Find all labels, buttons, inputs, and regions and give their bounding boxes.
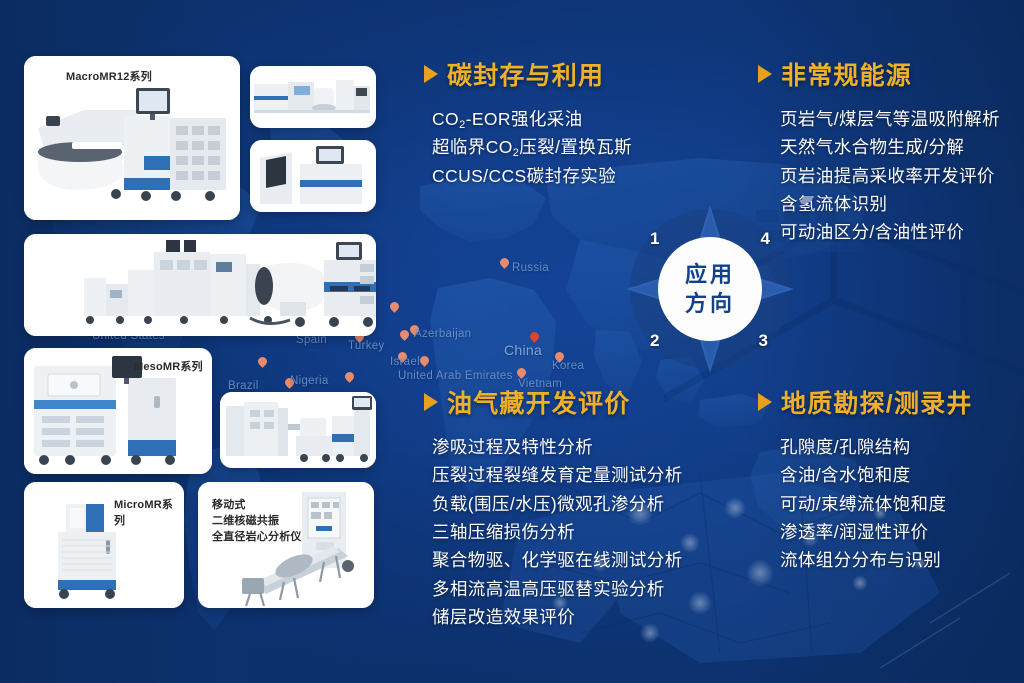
triangle-right-icon bbox=[424, 65, 438, 83]
list-item: 三轴压缩损伤分析 bbox=[432, 518, 683, 546]
list-item: 储层改造效果评价 bbox=[432, 603, 683, 631]
map-pin-uae bbox=[420, 356, 429, 369]
section-carbon-title: 碳封存与利用 bbox=[447, 56, 604, 92]
list-item: 含氢流体识别 bbox=[780, 190, 1000, 218]
section-geology-heading: 地质勘探/测录井 bbox=[758, 384, 973, 420]
compass-number-2: 2 bbox=[650, 331, 659, 351]
map-label-united-arab-emirates: United Arab Emirates bbox=[398, 370, 513, 382]
map-label-russia: Russia bbox=[512, 262, 549, 274]
list-item: 流体组分分布与识别 bbox=[780, 546, 973, 574]
list-item: 含油/含水饱和度 bbox=[780, 461, 973, 489]
poster-canvas: United States Brazil Spain Nigeria land … bbox=[0, 0, 1024, 683]
product-card-mobile-2d-nmr[interactable]: 移动式 二维核磁共振 全直径岩心分析仪 bbox=[198, 482, 374, 608]
triangle-right-icon bbox=[758, 393, 772, 411]
product-label-macromr12: MacroMR12系列 bbox=[66, 70, 152, 86]
section-unconventional-list: 页岩气/煤层气等温吸附解析 天然气水合物生成/分解 页岩油提高采收率开发评价 含… bbox=[758, 105, 1000, 247]
compass-title-line2: 方向 bbox=[626, 289, 794, 318]
compass-title-line1: 应用 bbox=[626, 260, 794, 289]
product-card-micromr[interactable]: MicroMR系列 bbox=[24, 482, 184, 608]
product-card-mesomr[interactable]: MesoMR系列 bbox=[24, 348, 212, 474]
list-item: 压裂过程裂缝发育定量测试分析 bbox=[432, 461, 683, 489]
list-item: 可动/束缚流体饱和度 bbox=[780, 490, 973, 518]
product-card-pump-console[interactable] bbox=[220, 392, 376, 468]
compass-number-3: 3 bbox=[759, 331, 768, 351]
section-reservoir-heading: 油气藏开发评价 bbox=[424, 384, 683, 420]
product-card-bench-analyzers[interactable] bbox=[250, 66, 376, 128]
list-item: 孔隙度/孔隙结构 bbox=[780, 433, 973, 461]
list-item: 页岩油提高采收率开发评价 bbox=[780, 162, 1000, 190]
product-photo-bench-analyzers bbox=[250, 66, 376, 128]
list-item: 渗透率/润湿性评价 bbox=[780, 518, 973, 546]
section-reservoir-list: 渗吸过程及特性分析 压裂过程裂缝发育定量测试分析 负载(围压/水压)微观孔渗分析… bbox=[424, 433, 683, 631]
map-label-korea: Korea bbox=[552, 360, 584, 372]
list-item: CO2-EOR强化采油 bbox=[432, 105, 632, 133]
list-item: 负载(围压/水压)微观孔渗分析 bbox=[432, 490, 683, 518]
compass-number-1: 1 bbox=[650, 229, 659, 249]
section-geology-list: 孔隙度/孔隙结构 含油/含水饱和度 可动/束缚流体饱和度 渗透率/润湿性评价 流… bbox=[758, 433, 973, 575]
map-pin-nigeria bbox=[345, 372, 354, 385]
map-label-brazil: Brazil bbox=[228, 380, 259, 392]
triangle-right-icon bbox=[758, 65, 772, 83]
section-unconventional-title: 非常规能源 bbox=[781, 56, 912, 92]
compass-title: 应用 方向 bbox=[626, 260, 794, 318]
map-pin-united-states bbox=[258, 357, 267, 370]
section-carbon-storage: 碳封存与利用 CO2-EOR强化采油 超临界CO2压裂/置换瓦斯 CCUS/CC… bbox=[424, 56, 632, 190]
section-carbon-list: CO2-EOR强化采油 超临界CO2压裂/置换瓦斯 CCUS/CCS碳封存实验 bbox=[424, 105, 632, 190]
product-card-core-flood-line[interactable] bbox=[24, 234, 376, 336]
section-carbon-heading: 碳封存与利用 bbox=[424, 56, 632, 92]
section-unconventional-heading: 非常规能源 bbox=[758, 56, 1000, 92]
list-item: 聚合物驱、化学驱在线测试分析 bbox=[432, 546, 683, 574]
product-photo-core-flood-line bbox=[24, 234, 376, 336]
map-label-china: China bbox=[504, 342, 542, 358]
list-item: 多相流高温高压驱替实验分析 bbox=[432, 575, 683, 603]
map-pin-ukraine bbox=[390, 302, 399, 315]
triangle-right-icon bbox=[424, 393, 438, 411]
section-reservoir-development: 油气藏开发评价 渗吸过程及特性分析 压裂过程裂缝发育定量测试分析 负载(围压/水… bbox=[424, 384, 683, 631]
product-card-cabinet-pair[interactable] bbox=[250, 140, 376, 212]
product-label-micromr: MicroMR系列 bbox=[114, 498, 184, 530]
product-photo-cabinet-pair bbox=[250, 140, 376, 212]
list-item: CCUS/CCS碳封存实验 bbox=[432, 162, 632, 190]
section-unconventional-energy: 非常规能源 页岩气/煤层气等温吸附解析 天然气水合物生成/分解 页岩油提高采收率… bbox=[758, 56, 1000, 247]
section-geology-exploration: 地质勘探/测录井 孔隙度/孔隙结构 含油/含水饱和度 可动/束缚流体饱和度 渗透… bbox=[758, 384, 973, 575]
section-geology-title: 地质勘探/测录井 bbox=[781, 384, 973, 420]
map-label-israel: Israel bbox=[390, 356, 420, 368]
map-pin-turkey bbox=[400, 330, 409, 343]
map-label-nigeria: Nigeria bbox=[290, 375, 329, 387]
product-photo-pump-console bbox=[220, 392, 376, 468]
map-label-turkey: Turkey bbox=[348, 340, 385, 352]
list-item: 可动油区分/含油性评价 bbox=[780, 218, 1000, 246]
product-card-macromr12[interactable]: MacroMR12系列 bbox=[24, 56, 240, 220]
product-label-mobile-2d-nmr: 移动式 二维核磁共振 全直径岩心分析仪 bbox=[212, 498, 302, 546]
list-item: 渗吸过程及特性分析 bbox=[432, 433, 683, 461]
map-pin-russia bbox=[500, 258, 509, 271]
list-item: 超临界CO2压裂/置换瓦斯 bbox=[432, 133, 632, 161]
product-label-mesomr: MesoMR系列 bbox=[134, 360, 203, 376]
list-item: 天然气水合物生成/分解 bbox=[780, 133, 1000, 161]
section-reservoir-title: 油气藏开发评价 bbox=[447, 384, 630, 420]
map-label-azerbaijan: Azerbaijan bbox=[414, 328, 471, 340]
list-item: 页岩气/煤层气等温吸附解析 bbox=[780, 105, 1000, 133]
